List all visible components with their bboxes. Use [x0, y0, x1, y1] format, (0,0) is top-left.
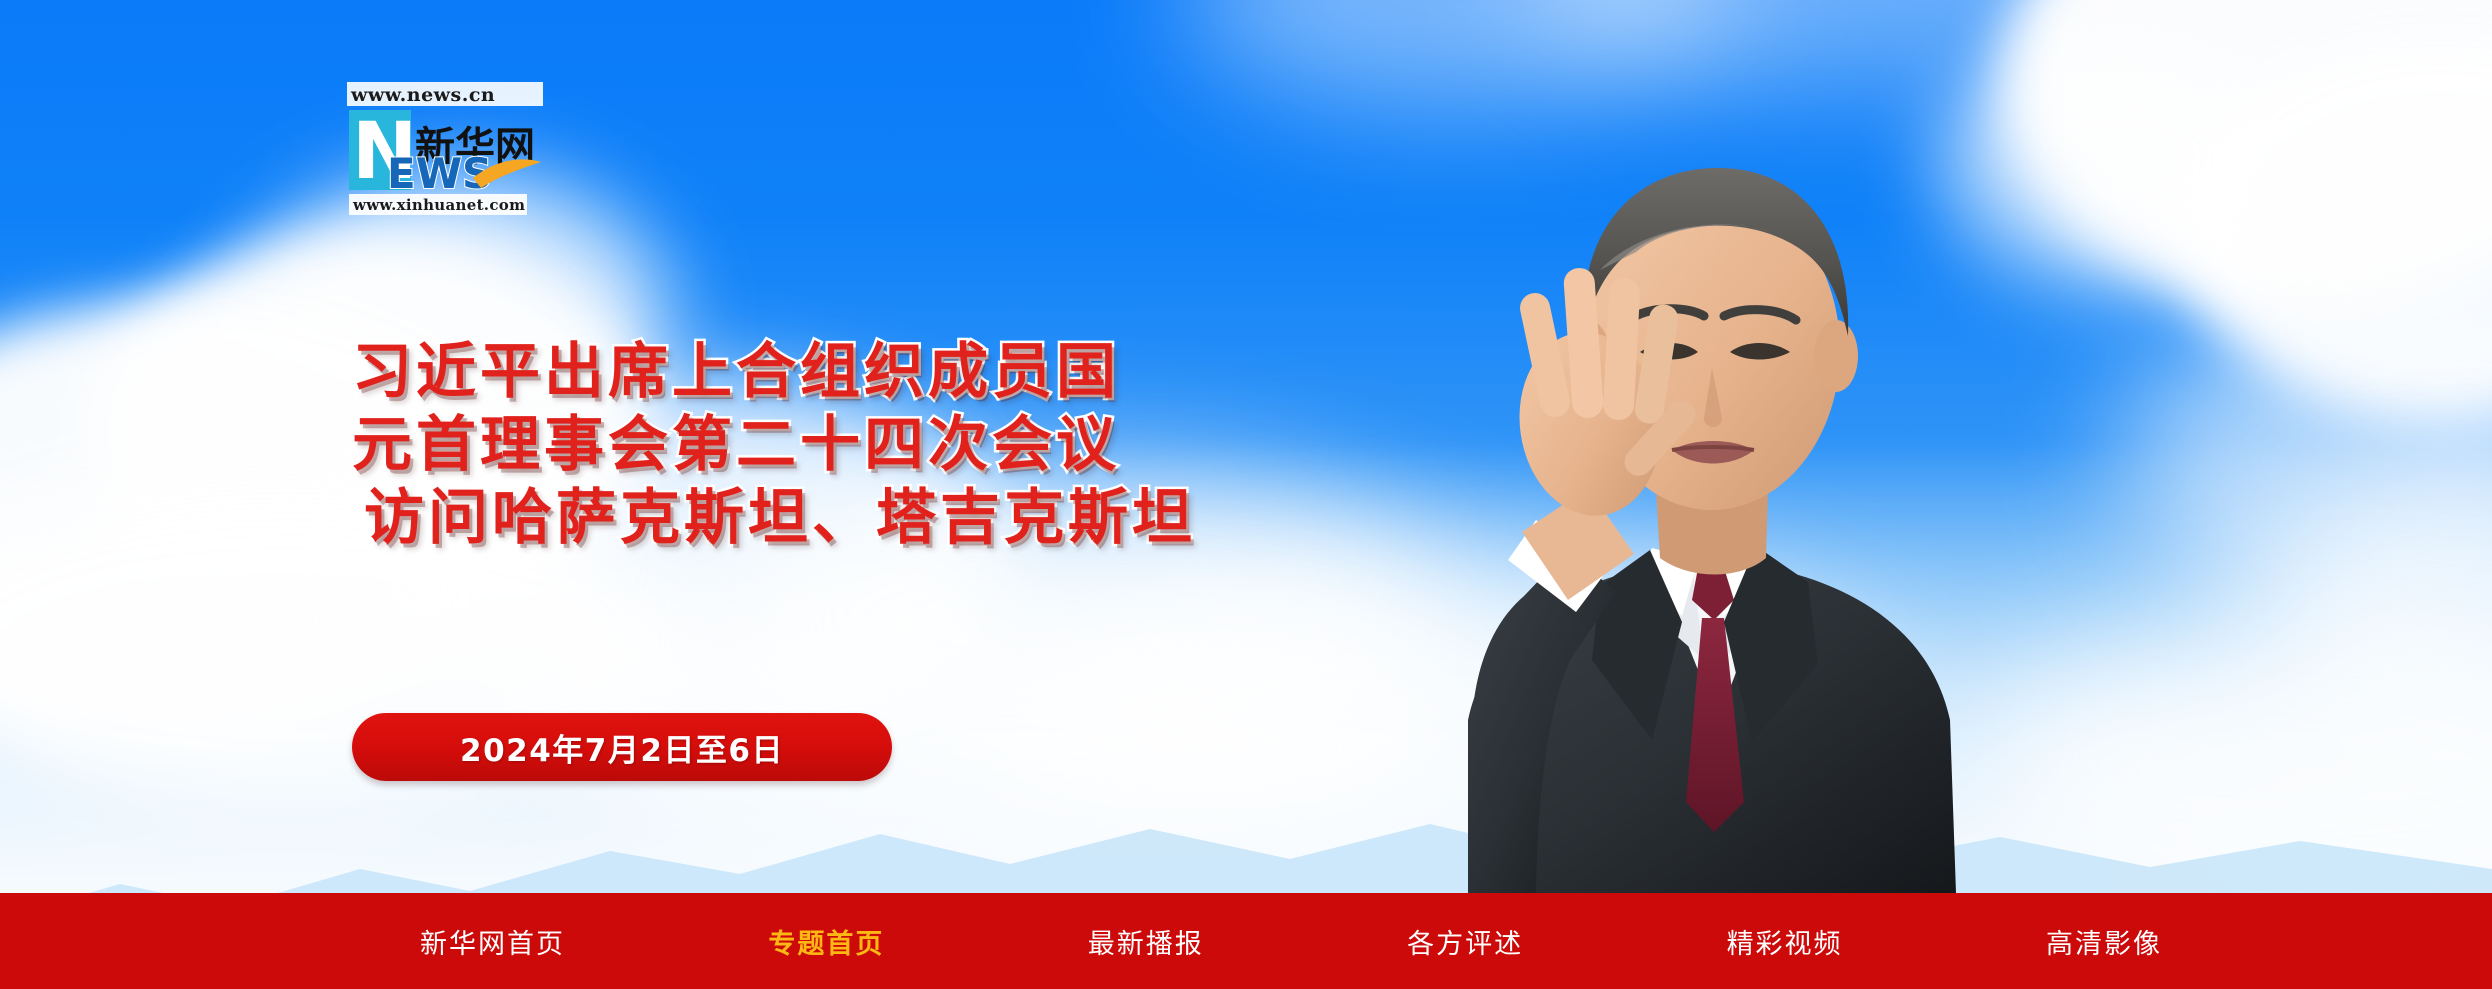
- nav-item-hd-images[interactable]: 高清影像: [2046, 922, 2162, 961]
- logo-top-url-text: www.news.cn: [350, 84, 495, 106]
- headline-line-1: 习近平出席上合组织成员国: [352, 336, 1352, 409]
- date-badge: 2024年7月2日至6日: [352, 713, 892, 781]
- nav-item-latest-news[interactable]: 最新播报: [1088, 922, 1204, 961]
- portrait-figure: [1300, 20, 2060, 893]
- nav-items-container: 新华网首页 专题首页 最新播报 各方评述 精彩视频 高清影像: [0, 922, 2492, 961]
- logo-ews-letters: EWS: [387, 149, 492, 198]
- headline-line-3: 访问哈萨克斯坦、塔吉克斯坦: [364, 482, 1352, 555]
- nav-item-topic-home[interactable]: 专题首页: [768, 922, 884, 961]
- logo-bottom-url-text: www.xinhuanet.com: [352, 196, 525, 214]
- bottom-navigation-bar: 新华网首页 专题首页 最新播报 各方评述 精彩视频 高清影像: [0, 893, 2492, 989]
- special-topic-banner: www.news.cn N 新华网 EWS www.xinhuanet.com …: [0, 0, 2492, 989]
- nav-item-videos[interactable]: 精彩视频: [1727, 922, 1843, 961]
- nav-item-commentary[interactable]: 各方评述: [1407, 922, 1523, 961]
- headline-line-2: 元首理事会第二十四次会议: [352, 409, 1352, 482]
- headline-block: 习近平出席上合组织成员国 元首理事会第二十四次会议 访问哈萨克斯坦、塔吉克斯坦: [352, 336, 1352, 556]
- date-badge-label: 2024年7月2日至6日: [460, 725, 784, 770]
- xinhua-logo[interactable]: www.news.cn N 新华网 EWS www.xinhuanet.com: [345, 82, 545, 217]
- nav-item-xinhua-home[interactable]: 新华网首页: [420, 922, 565, 961]
